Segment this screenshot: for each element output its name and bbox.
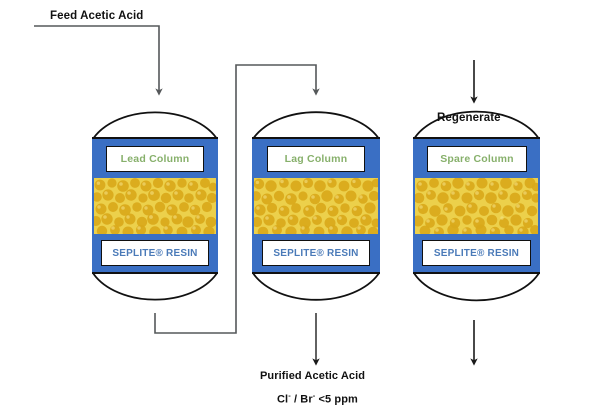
column-spare[interactable]: Spare Column bbox=[413, 98, 540, 320]
process-diagram: Lead Column bbox=[0, 0, 600, 419]
regenerate-label: Regenerate bbox=[437, 112, 501, 124]
resin-label-box-lag: SEPLITE® RESIN bbox=[262, 240, 370, 266]
column-label-box-lag: Lag Column bbox=[267, 146, 365, 172]
column-label-box-spare: Spare Column bbox=[427, 146, 527, 172]
resin-beads-lead bbox=[94, 178, 216, 234]
resin-beads-lag bbox=[254, 178, 378, 234]
column-label-spare: Spare Column bbox=[440, 153, 514, 165]
resin-beads-spare bbox=[415, 178, 538, 234]
feed-stream-label: Feed Acetic Acid bbox=[50, 10, 143, 22]
product-limit-text: <5 ppm bbox=[315, 394, 358, 406]
product-label-line2: Cl- / Br- <5 ppm bbox=[277, 391, 358, 406]
resin-bed-lead bbox=[94, 178, 216, 234]
resin-label-lag: SEPLITE® RESIN bbox=[273, 248, 358, 259]
resin-bed-spare bbox=[415, 178, 538, 234]
product-label-line1: Purified Acetic Acid bbox=[260, 370, 365, 382]
feed-line bbox=[34, 26, 159, 92]
column-label-lead: Lead Column bbox=[121, 153, 190, 165]
column-lead[interactable]: Lead Column bbox=[92, 98, 218, 313]
resin-label-box-lead: SEPLITE® RESIN bbox=[101, 240, 209, 266]
resin-label-spare: SEPLITE® RESIN bbox=[434, 248, 519, 259]
column-label-lag: Lag Column bbox=[285, 153, 348, 165]
product-chloride-text: Cl bbox=[277, 394, 288, 406]
column-label-box-lead: Lead Column bbox=[106, 146, 204, 172]
column-lag[interactable]: Lag Column bbox=[252, 98, 380, 313]
resin-label-box-spare: SEPLITE® RESIN bbox=[422, 240, 531, 266]
resin-label-lead: SEPLITE® RESIN bbox=[112, 248, 197, 259]
resin-bed-lag bbox=[254, 178, 378, 234]
product-separator-text: / Br bbox=[291, 394, 313, 406]
